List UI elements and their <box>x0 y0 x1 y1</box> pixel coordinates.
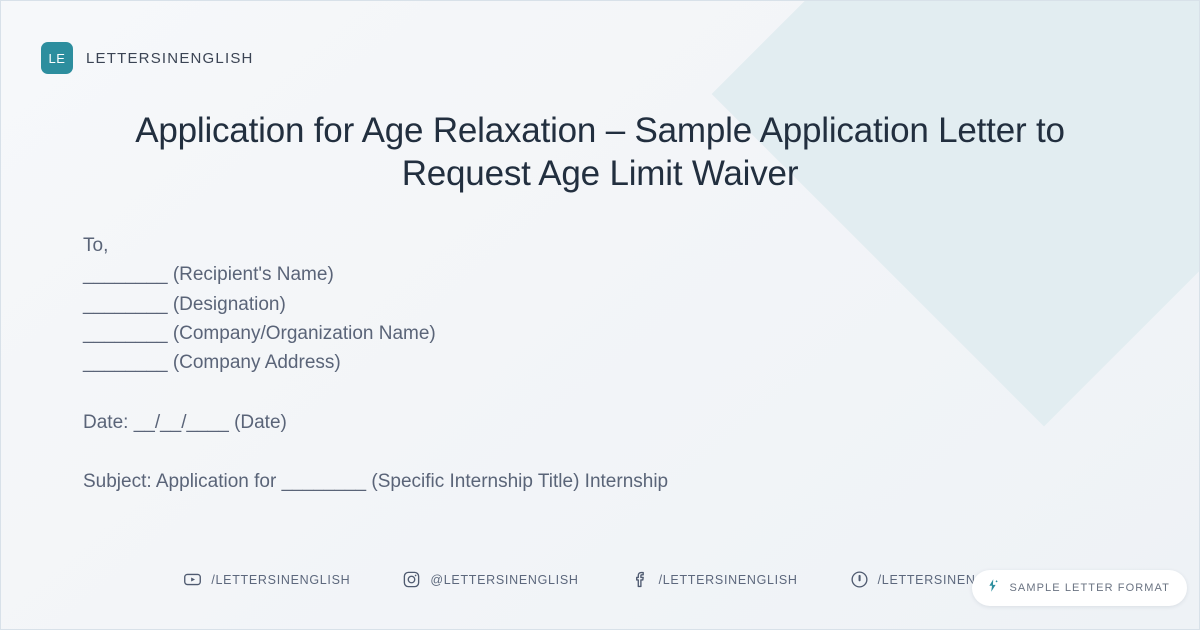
social-link-instagram[interactable]: @LETTERSINENGLISH <box>402 570 578 589</box>
letter-line-subject: Subject: Application for ________ (Speci… <box>83 467 1109 496</box>
brand-badge-icon: LE <box>41 42 73 74</box>
youtube-icon <box>183 570 202 589</box>
letter-line-recipient: ________ (Recipient's Name) <box>83 260 1109 289</box>
poster-canvas: LE LETTERSINENGLISH Application for Age … <box>0 0 1200 630</box>
brand-logo[interactable]: LE LETTERSINENGLISH <box>41 42 254 74</box>
letter-line-to: To, <box>83 231 1109 260</box>
instagram-icon <box>402 570 421 589</box>
letter-body: To, ________ (Recipient's Name) ________… <box>83 231 1109 496</box>
letter-line-date: Date: __/__/____ (Date) <box>83 408 1109 437</box>
letter-line-designation: ________ (Designation) <box>83 290 1109 319</box>
social-link-youtube[interactable]: /LETTERSINENGLISH <box>183 570 350 589</box>
sample-letter-format-badge[interactable]: SAMPLE LETTER FORMAT <box>972 570 1187 606</box>
social-handle-instagram: @LETTERSINENGLISH <box>430 573 578 587</box>
page-title: Application for Age Relaxation – Sample … <box>71 109 1129 196</box>
social-handle-youtube: /LETTERSINENGLISH <box>211 573 350 587</box>
social-handle-facebook: /LETTERSINENGLISH <box>659 573 798 587</box>
sample-letter-format-label: SAMPLE LETTER FORMAT <box>1009 582 1170 594</box>
brand-name-label: LETTERSINENGLISH <box>86 50 254 67</box>
letter-spacer-2 <box>83 437 1109 467</box>
facebook-icon <box>631 570 650 589</box>
letter-line-address: ________ (Company Address) <box>83 348 1109 377</box>
social-link-facebook[interactable]: /LETTERSINENGLISH <box>631 570 798 589</box>
lightning-bolt-icon <box>986 578 1001 598</box>
letter-line-company: ________ (Company/Organization Name) <box>83 319 1109 348</box>
poster-content: LE LETTERSINENGLISH Application for Age … <box>1 1 1199 629</box>
letter-spacer-1 <box>83 378 1109 408</box>
pinterest-icon <box>850 570 869 589</box>
